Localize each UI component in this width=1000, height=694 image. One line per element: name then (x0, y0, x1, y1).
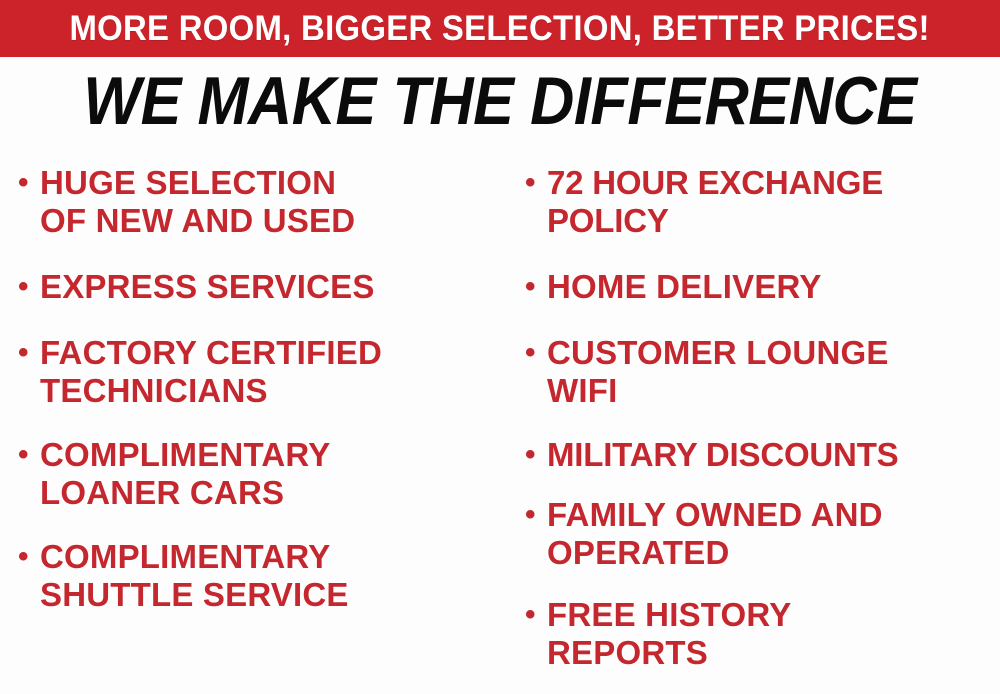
list-item: • FACTORY CERTIFIED TECHNICIANS (18, 334, 501, 410)
list-item: • HOME DELIVERY (525, 268, 1000, 306)
list-item: • 72 HOUR EXCHANGE POLICY (525, 164, 1000, 240)
bullet-dot-icon: • (525, 496, 547, 534)
list-item: • COMPLIMENTARY LOANER CARS (18, 436, 501, 512)
list-item-label: MILITARY DISCOUNTS (547, 436, 1000, 474)
benefits-column-left: • HUGE SELECTION OF NEW AND USED • EXPRE… (0, 152, 505, 694)
list-item-label: COMPLIMENTARY LOANER CARS (40, 436, 501, 512)
list-item: • HUGE SELECTION OF NEW AND USED (18, 164, 501, 240)
list-item-label: CUSTOMER LOUNGE WIFI (547, 334, 1000, 410)
list-item-label: FREE HISTORY REPORTS (547, 596, 1000, 672)
list-item-label: FACTORY CERTIFIED TECHNICIANS (40, 334, 501, 410)
bullet-dot-icon: • (18, 436, 40, 474)
bullet-dot-icon: • (525, 164, 547, 202)
list-item: • FAMILY OWNED AND OPERATED (525, 496, 1000, 572)
bullet-dot-icon: • (18, 268, 40, 306)
dealership-promo-poster: MORE ROOM, BIGGER SELECTION, BETTER PRIC… (0, 0, 1000, 694)
list-item-label: EXPRESS SERVICES (40, 268, 501, 306)
benefits-columns: • HUGE SELECTION OF NEW AND USED • EXPRE… (0, 152, 1000, 694)
page-title: WE MAKE THE DIFFERENCE (83, 66, 916, 136)
bullet-dot-icon: • (18, 538, 40, 576)
bullet-dot-icon: • (525, 334, 547, 372)
list-item-label: 72 HOUR EXCHANGE POLICY (547, 164, 1000, 240)
bullet-dot-icon: • (18, 334, 40, 372)
list-item-label: HOME DELIVERY (547, 268, 1000, 306)
benefits-column-right: • 72 HOUR EXCHANGE POLICY • HOME DELIVER… (505, 152, 1000, 694)
bullet-dot-icon: • (18, 164, 40, 202)
banner-headline-text: MORE ROOM, BIGGER SELECTION, BETTER PRIC… (70, 11, 930, 46)
list-item: • COMPLIMENTARY SHUTTLE SERVICE (18, 538, 501, 614)
top-banner: MORE ROOM, BIGGER SELECTION, BETTER PRIC… (0, 0, 1000, 57)
list-item-label: FAMILY OWNED AND OPERATED (547, 496, 1000, 572)
headline-container: WE MAKE THE DIFFERENCE (0, 62, 1000, 140)
bullet-dot-icon: • (525, 436, 547, 474)
list-item: • MILITARY DISCOUNTS (525, 436, 1000, 474)
list-item: • FREE HISTORY REPORTS (525, 596, 1000, 672)
list-item-label: HUGE SELECTION OF NEW AND USED (40, 164, 501, 240)
list-item: • CUSTOMER LOUNGE WIFI (525, 334, 1000, 410)
list-item-label: COMPLIMENTARY SHUTTLE SERVICE (40, 538, 501, 614)
bullet-dot-icon: • (525, 596, 547, 634)
list-item: • EXPRESS SERVICES (18, 268, 501, 306)
bullet-dot-icon: • (525, 268, 547, 306)
